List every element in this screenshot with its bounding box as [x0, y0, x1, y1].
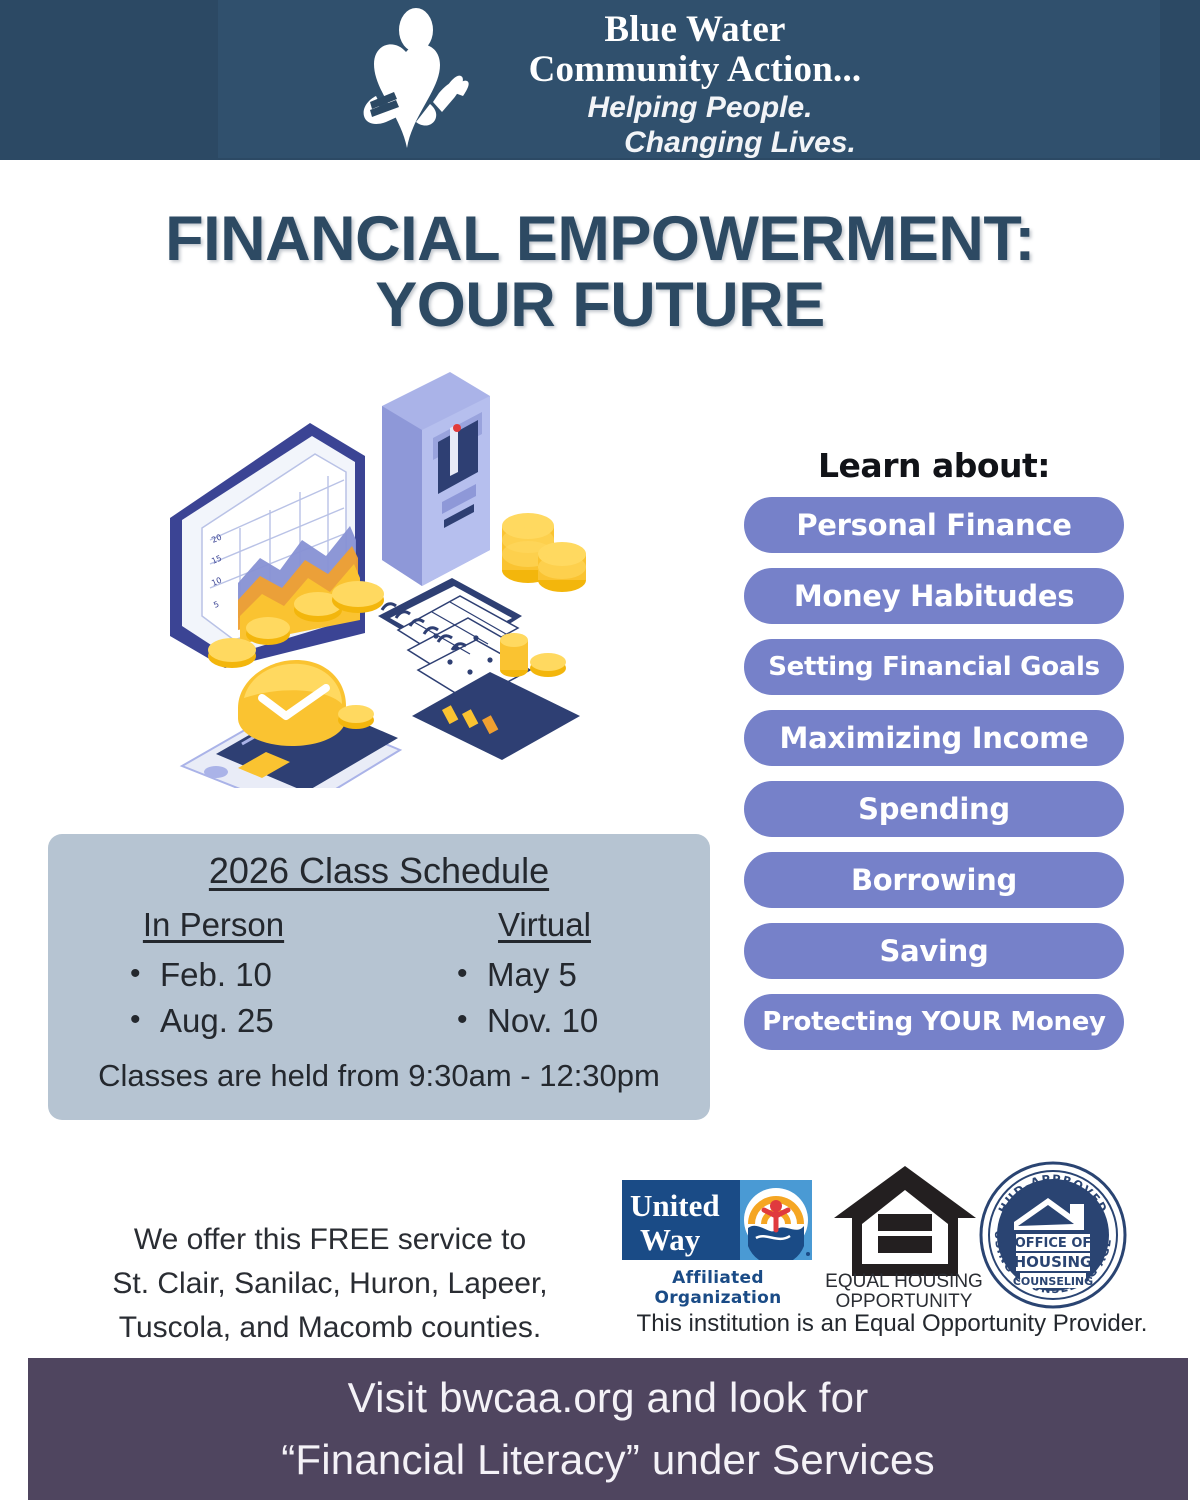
footer-call-to-action-banner: Visit bwcaa.org and look for “Financial …: [28, 1358, 1188, 1500]
page-title-line2: YOUR FUTURE: [0, 272, 1200, 338]
topic-pill-label: Maximizing Income: [780, 721, 1089, 755]
schedule-date-item: May 5: [457, 952, 710, 998]
topic-pill-maximizing-income[interactable]: Maximizing Income: [744, 710, 1124, 766]
schedule-column-heading: In Person: [48, 906, 379, 944]
org-tagline-line1: Helping People.: [500, 90, 890, 125]
svg-text:HOUSING: HOUSING: [1014, 1253, 1093, 1271]
topic-pill-label: Saving: [880, 934, 989, 968]
org-name-line2: Community Action...: [500, 50, 890, 90]
topic-pill-borrowing[interactable]: Borrowing: [744, 852, 1124, 908]
topic-pill-label: Setting Financial Goals: [768, 652, 1100, 682]
topic-pill-setting-financial-goals[interactable]: Setting Financial Goals: [744, 639, 1124, 695]
page-title: FINANCIAL EMPOWERMENT: YOUR FUTURE: [0, 206, 1200, 338]
svg-text:Way: Way: [640, 1222, 701, 1257]
learn-about-heading: Learn about:: [744, 446, 1124, 485]
schedule-column-in-person: In Person Feb. 10 Aug. 25: [48, 906, 379, 1044]
heart-hands-logo-icon: [330, 8, 490, 158]
topic-pill-spending[interactable]: Spending: [744, 781, 1124, 837]
schedule-column-heading: Virtual: [379, 906, 710, 944]
topic-pill-protecting-your-money[interactable]: Protecting YOUR Money: [744, 994, 1124, 1050]
isometric-finance-illustration-icon: 20 15 10 5: [150, 368, 630, 788]
learn-about-section: Learn about: Personal Finance Money Habi…: [744, 446, 1124, 1065]
eho-caption-line2: OPPORTUNITY: [824, 1292, 984, 1312]
class-schedule-card: 2026 Class Schedule In Person Feb. 10 Au…: [48, 834, 710, 1120]
topic-pill-label: Spending: [858, 792, 1010, 826]
equal-housing-opportunity-caption: EQUAL HOUSING OPPORTUNITY: [824, 1272, 984, 1312]
schedule-date-list: May 5 Nov. 10: [379, 952, 710, 1044]
class-times-note: Classes are held from 9:30am - 12:30pm: [48, 1058, 710, 1094]
schedule-date-list: Feb. 10 Aug. 25: [48, 952, 379, 1044]
service-area-line2: St. Clair, Sanilac, Huron, Lapeer,: [50, 1262, 610, 1306]
org-tagline-line2: Changing Lives.: [500, 125, 890, 160]
hud-approved-housing-counseling-seal-icon: HUD-APPROVED HOUSING COUNSELING AGENCY O…: [974, 1160, 1132, 1310]
org-name-line1: Blue Water: [500, 10, 890, 50]
page-title-line1: FINANCIAL EMPOWERMENT:: [0, 206, 1200, 272]
svg-text:OFFICE OF: OFFICE OF: [1015, 1236, 1092, 1251]
topic-pill-label: Protecting YOUR Money: [762, 1007, 1105, 1037]
schedule-date-item: Nov. 10: [457, 998, 710, 1044]
header-band: Blue Water Community Action... Helping P…: [0, 0, 1200, 160]
service-area-text: We offer this FREE service to St. Clair,…: [50, 1218, 610, 1350]
svg-text:United: United: [630, 1188, 720, 1223]
service-area-line3: Tuscola, and Macomb counties.: [50, 1306, 610, 1350]
footer-line1: Visit bwcaa.org and look for: [348, 1367, 869, 1429]
schedule-column-virtual: Virtual May 5 Nov. 10: [379, 906, 710, 1044]
topic-pill-personal-finance[interactable]: Personal Finance: [744, 497, 1124, 553]
eho-caption-line1: EQUAL HOUSING: [824, 1272, 984, 1292]
partner-logos-row: United Way Affiliated Organization EQUAL…: [612, 1160, 1172, 1310]
schedule-date-item: Feb. 10: [130, 952, 379, 998]
topic-pill-label: Borrowing: [851, 863, 1017, 897]
topic-pill-money-habitudes[interactable]: Money Habitudes: [744, 568, 1124, 624]
class-schedule-title: 2026 Class Schedule: [48, 850, 710, 892]
united-way-caption: Affiliated Organization: [618, 1268, 818, 1308]
united-way-logo-icon: United Way: [622, 1180, 812, 1260]
service-area-line1: We offer this FREE service to: [50, 1218, 610, 1262]
equal-opportunity-provider-text: This institution is an Equal Opportunity…: [612, 1310, 1172, 1338]
schedule-date-item: Aug. 25: [130, 998, 379, 1044]
svg-text:COUNSELING: COUNSELING: [1013, 1275, 1093, 1288]
topic-pill-label: Personal Finance: [796, 508, 1071, 542]
topic-pill-label: Money Habitudes: [794, 579, 1074, 613]
organization-logo: Blue Water Community Action... Helping P…: [330, 6, 890, 158]
topic-pill-saving[interactable]: Saving: [744, 923, 1124, 979]
footer-line2: “Financial Literacy” under Services: [281, 1429, 935, 1491]
equal-housing-opportunity-logo-icon: [830, 1162, 980, 1280]
